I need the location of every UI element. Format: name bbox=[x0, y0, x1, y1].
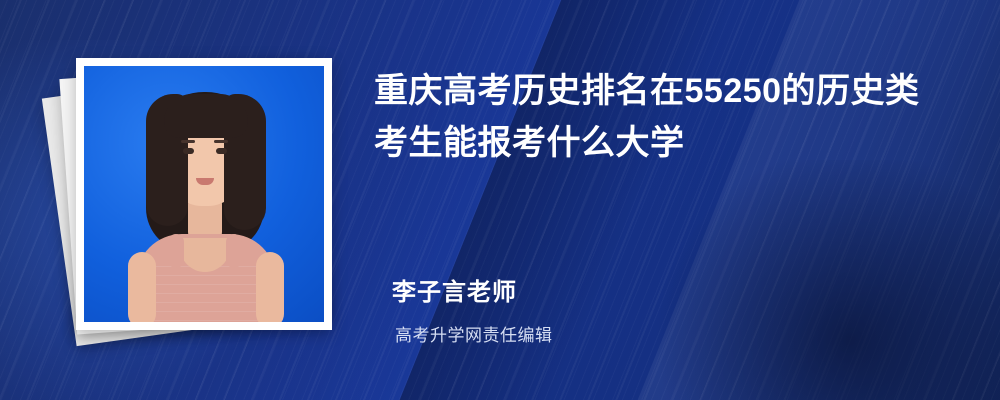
portrait-arm-right bbox=[256, 252, 284, 322]
photo-card-stack bbox=[58, 52, 358, 348]
portrait-strap-left bbox=[168, 234, 184, 268]
author-role: 高考升学网责任编辑 bbox=[392, 321, 952, 346]
author-name: 李子言老师 bbox=[392, 272, 952, 307]
portrait-dress-texture bbox=[144, 266, 268, 322]
portrait-eye-left bbox=[183, 148, 194, 154]
article-cover-banner: 重庆高考历史排名在55250的历史类考生能报考什么大学 李子言老师 高考升学网责… bbox=[0, 0, 1000, 400]
portrait-strap-right bbox=[226, 234, 242, 268]
portrait-fringe bbox=[164, 94, 248, 138]
photo-card-front bbox=[76, 58, 332, 330]
portrait-brow-right bbox=[214, 140, 228, 143]
article-headline: 重庆高考历史排名在55250的历史类考生能报考什么大学 bbox=[374, 66, 954, 169]
headline-block: 重庆高考历史排名在55250的历史类考生能报考什么大学 bbox=[374, 66, 974, 169]
portrait-arm-left bbox=[128, 252, 156, 322]
portrait-brow-left bbox=[181, 140, 195, 143]
author-portrait-photo bbox=[84, 66, 324, 322]
byline-block: 李子言老师 高考升学网责任编辑 bbox=[392, 272, 952, 346]
portrait-eye-right bbox=[216, 148, 227, 154]
